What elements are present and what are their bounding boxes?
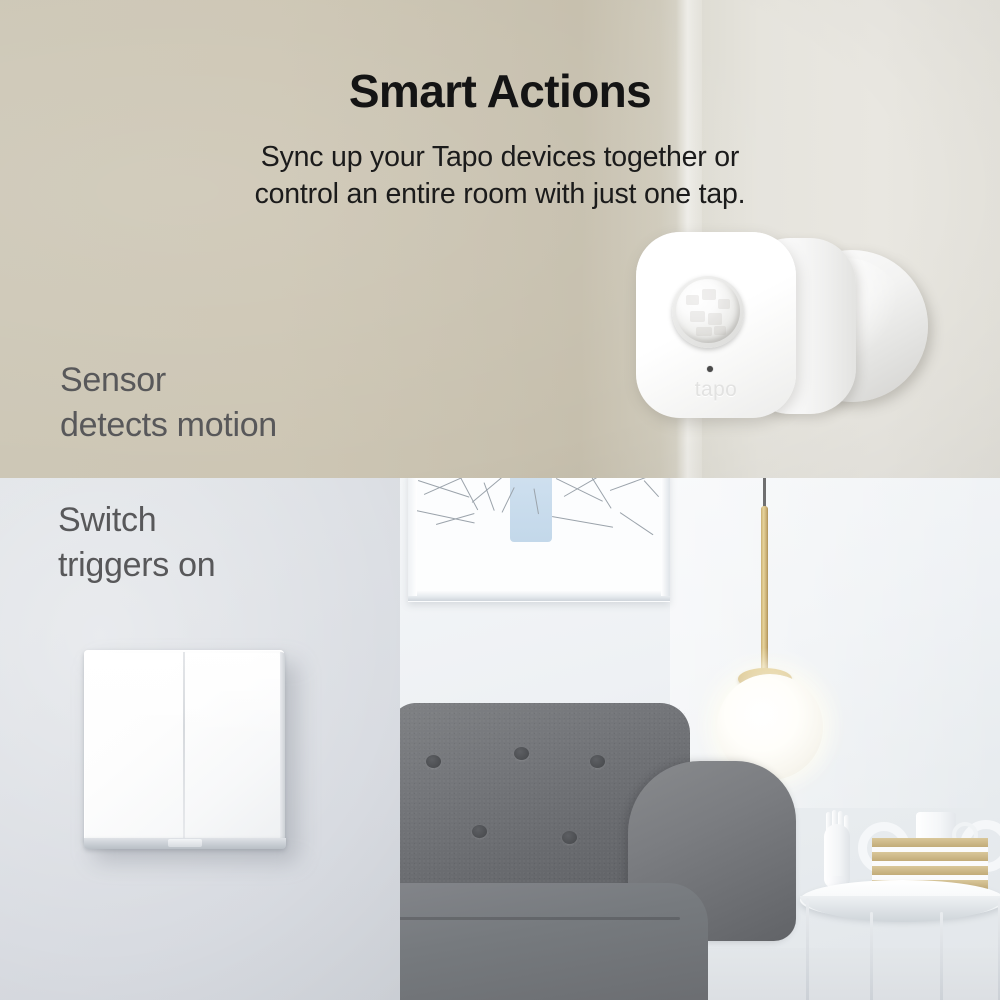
product-feature-graphic: Smart Actions Sync up your Tapo devices … — [0, 0, 1000, 1000]
subtitle-line-1: Sync up your Tapo devices together or — [0, 139, 1000, 177]
white-tray-side-table — [800, 858, 1000, 1000]
sensor-body-face: tapo — [636, 232, 796, 418]
title-block: Smart Actions Sync up your Tapo devices … — [0, 0, 1000, 214]
switch-paddle-divider — [183, 652, 185, 840]
artwork-frame-bottom — [408, 590, 670, 601]
page-subtitle: Sync up your Tapo devices together or co… — [0, 117, 1000, 215]
artwork-frame-left — [408, 478, 417, 596]
tapo-motion-sensor: tapo — [636, 232, 922, 422]
artwork-sky-patch — [510, 478, 552, 542]
table-leg — [940, 912, 943, 1000]
table-leg — [806, 898, 809, 1000]
artwork-image — [414, 478, 664, 550]
step-label-switch: Switch triggers on — [58, 498, 215, 588]
sensor-scene-panel: Smart Actions Sync up your Tapo devices … — [0, 0, 1000, 478]
step-label-sensor: Sensor detects motion — [60, 358, 277, 448]
switch-faceplate — [84, 650, 284, 842]
gray-tufted-armchair — [400, 703, 810, 1000]
page-title: Smart Actions — [0, 0, 1000, 117]
status-led-icon — [707, 366, 713, 372]
chair-seat-cushion — [400, 883, 708, 1000]
table-tray-rim — [800, 896, 1000, 922]
table-leg — [870, 912, 873, 1000]
pir-dome-lens-icon — [676, 279, 740, 343]
step-label-switch-line-2: triggers on — [58, 543, 215, 588]
step-label-sensor-line-2: detects motion — [60, 403, 277, 448]
tapo-brand-logo: tapo — [666, 378, 766, 402]
pendant-lamp-cord — [763, 478, 766, 508]
living-room-photo — [400, 478, 1000, 1000]
artwork-frame-right — [661, 478, 670, 596]
switch-right-edge — [280, 652, 285, 842]
chair-seat-seam — [400, 917, 680, 920]
step-label-sensor-line-1: Sensor — [60, 358, 277, 403]
step-label-switch-line-1: Switch — [58, 498, 215, 543]
switch-base-notch — [168, 839, 202, 847]
subtitle-line-2: control an entire room with just one tap… — [0, 176, 1000, 214]
tapo-smart-light-switch — [84, 650, 296, 862]
framed-winter-artwork — [408, 478, 670, 602]
